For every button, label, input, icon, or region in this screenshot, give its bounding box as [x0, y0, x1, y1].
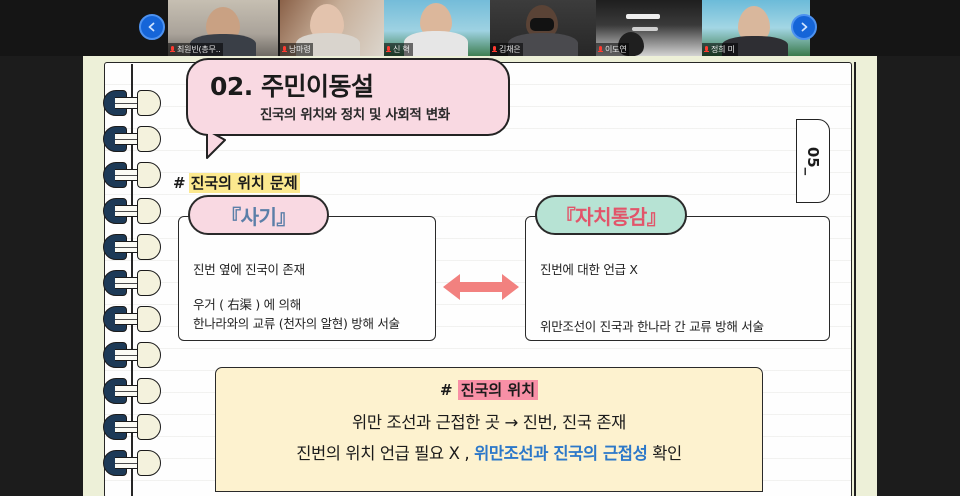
binding-ring: [103, 342, 161, 368]
participant-tile[interactable]: 신 혁: [384, 0, 492, 56]
participant-namebar: 정희 미: [702, 43, 738, 56]
participant-tile[interactable]: 최원빈(총무..: [168, 0, 280, 56]
mic-muted-icon: [386, 46, 391, 54]
mic-muted-icon: [170, 46, 175, 54]
slide-title: 02. 주민이동설: [210, 67, 374, 103]
participant-name: 최원빈(총무..: [177, 44, 220, 55]
presentation-slide[interactable]: 05_ 02. 주민이동설 진국의 위치와 정치 및 사회적 변화 #진국의 위…: [83, 56, 877, 496]
source-card-left: 『사기』 진번 옆에 진국이 존재 우거 ( 右渠 ) 에 의해 한나라와의 교…: [178, 216, 436, 341]
source-line: 진번 옆에 진국이 존재: [193, 261, 425, 280]
conclusion-line-2: 진번의 위치 언급 필요 X , 위만조선과 진국의 근접성 확인: [216, 440, 762, 464]
page-number-label: 05_: [804, 147, 822, 175]
participant-namebar: 김채은: [490, 43, 523, 56]
participant-name: 신 혁: [393, 44, 410, 55]
participant-name: 이도연: [605, 44, 626, 55]
participant-tile[interactable]: 김채은: [490, 0, 598, 56]
speech-bubble-tail-icon: [205, 134, 235, 164]
filmstrip-prev-button[interactable]: [139, 14, 165, 40]
source-card-right: 『자치통감』 진번에 대한 언급 X 위만조선이 진국과 한나라 간 교류 방해…: [525, 216, 830, 341]
binding-ring: [103, 306, 161, 332]
conclusion-heading: # 진국의 위치: [216, 379, 762, 400]
binding-ring: [103, 126, 161, 152]
chevron-right-icon: [798, 21, 810, 33]
participant-tile[interactable]: 이도연: [596, 0, 704, 56]
conclusion-heading-text: 진국의 위치: [458, 380, 538, 400]
source-body-right: 진번에 대한 언급 X 위만조선이 진국과 한나라 간 교류 방해 서술: [540, 261, 819, 337]
participant-tile[interactable]: 낭마령: [280, 0, 386, 56]
conclusion-line-2-part2: 확인: [647, 444, 681, 463]
source-title-left: 『사기』: [221, 201, 296, 230]
participant-namebar: 낭마령: [280, 43, 313, 56]
participant-name: 김채은: [499, 44, 520, 55]
page-number-tab: 05_: [796, 119, 830, 203]
binding-ring: [103, 234, 161, 260]
binding-ring: [103, 414, 161, 440]
binding-ring: [103, 90, 161, 116]
screen-root: 최원빈(총무.. 낭마령 신 혁: [0, 0, 960, 496]
participant-namebar: 이도연: [596, 43, 629, 56]
section-heading-text: 진국의 위치 문제: [189, 173, 300, 193]
participant-namebar: 최원빈(총무..: [168, 43, 223, 56]
hash-marker: #: [440, 381, 453, 399]
source-line: 한나라와의 교류 (천자의 알현) 방해 서술: [193, 315, 425, 334]
source-title-pill-right: 『자치통감』: [535, 195, 687, 235]
conclusion-emphasis: 위만조선과 진국의 근접성: [474, 444, 647, 463]
binding-ring: [103, 162, 161, 188]
source-line: 우거 ( 右渠 ) 에 의해: [193, 296, 425, 315]
source-title-pill-left: 『사기』: [188, 195, 329, 235]
source-line: 진번에 대한 언급 X: [540, 261, 819, 280]
binding-ring: [103, 450, 161, 476]
participant-torso: [404, 31, 468, 56]
filmstrip-next-button[interactable]: [791, 14, 817, 40]
title-speech-bubble: 02. 주민이동설 진국의 위치와 정치 및 사회적 변화: [186, 58, 510, 136]
conclusion-line-2-part1: 진번의 위치 언급 필요 X ,: [296, 444, 474, 463]
ceiling-light-icon: [626, 14, 660, 19]
source-title-right: 『자치통감』: [556, 201, 667, 230]
face-mask-icon: [530, 18, 554, 31]
mic-muted-icon: [282, 46, 287, 54]
section-heading: #진국의 위치 문제: [173, 172, 300, 193]
binding-ring: [103, 378, 161, 404]
mic-muted-icon: [704, 46, 709, 54]
conclusion-line-1: 위만 조선과 근접한 곳 → 진번, 진국 존재: [216, 409, 762, 433]
chevron-left-icon: [146, 21, 158, 33]
participant-namebar: 신 혁: [384, 43, 413, 56]
mic-muted-icon: [598, 46, 603, 54]
paper-right-edge: [854, 62, 856, 496]
participant-name: 낭마령: [289, 44, 310, 55]
ceiling-light-icon: [632, 27, 658, 31]
binding-ring: [103, 270, 161, 296]
double-headed-arrow-icon: [443, 270, 519, 304]
source-line: 위만조선이 진국과 한나라 간 교류 방해 서술: [540, 318, 819, 337]
mic-muted-icon: [492, 46, 497, 54]
video-filmstrip: 최원빈(총무.. 낭마령 신 혁: [0, 0, 960, 56]
source-body-left: 진번 옆에 진국이 존재 우거 ( 右渠 ) 에 의해 한나라와의 교류 (천자…: [193, 261, 425, 333]
participant-name: 정희 미: [711, 44, 735, 55]
binding-ring: [103, 198, 161, 224]
conclusion-box: # 진국의 위치 위만 조선과 근접한 곳 → 진번, 진국 존재 진번의 위치…: [215, 367, 763, 492]
hash-marker: #: [173, 174, 186, 192]
slide-subtitle: 진국의 위치와 정치 및 사회적 변화: [260, 103, 450, 123]
